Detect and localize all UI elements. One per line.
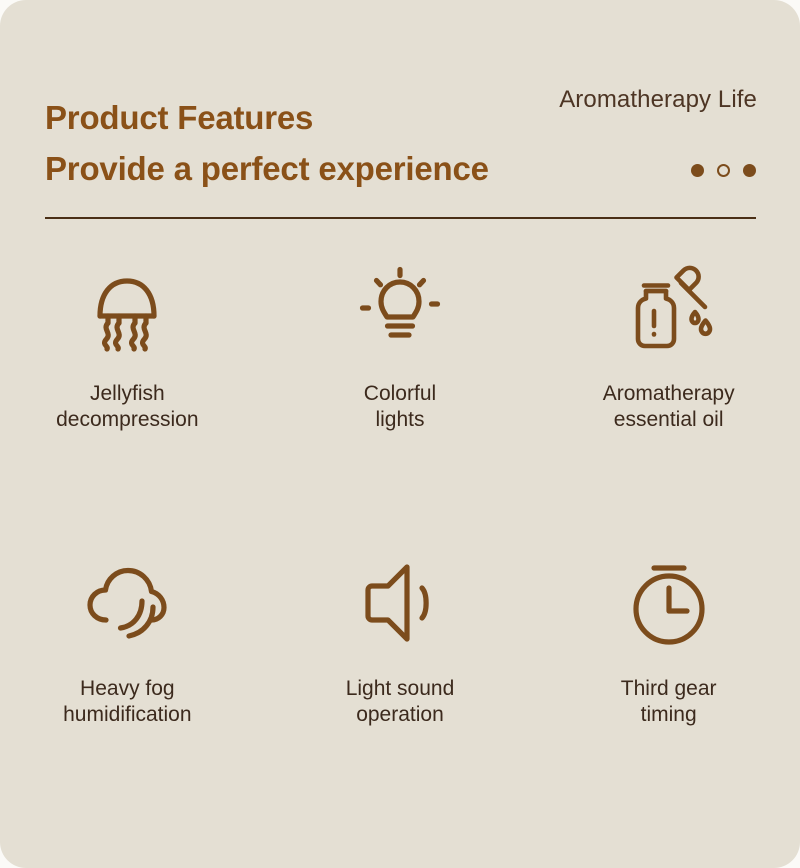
feature-label: Light sound operation <box>346 676 455 728</box>
feature-item-third-gear-timing: Third gear timing <box>535 557 800 728</box>
title-line-1: Product Features <box>45 92 489 143</box>
feature-label: Colorful lights <box>364 381 436 433</box>
product-features-card: Product Features Provide a perfect exper… <box>0 0 800 868</box>
pagination-dot-1[interactable] <box>691 164 704 177</box>
title-line-2: Provide a perfect experience <box>45 143 489 194</box>
feature-label: Jellyfish decompression <box>56 381 198 433</box>
feature-item-aromatherapy-essential-oil: Aromatherapy essential oil <box>535 262 800 433</box>
pagination-dot-3[interactable] <box>743 164 756 177</box>
header-divider <box>45 217 756 219</box>
brand-label: Aromatherapy Life <box>559 86 757 114</box>
feature-item-jellyfish-decompression: Jellyfish decompression <box>0 262 261 433</box>
feature-item-light-sound-operation: Light sound operation <box>267 557 534 728</box>
page-title: Product Features Provide a perfect exper… <box>45 92 489 194</box>
features-grid: Jellyfish decompression Colorful lights <box>0 262 800 728</box>
lightbulb-icon <box>354 262 446 354</box>
stopwatch-timer-icon <box>623 557 715 649</box>
feature-label: Heavy fog humidification <box>63 676 191 728</box>
fog-cloud-icon <box>81 557 173 649</box>
card-header: Product Features Provide a perfect exper… <box>0 0 800 232</box>
pagination-dots[interactable] <box>691 164 756 177</box>
feature-label: Third gear timing <box>621 676 717 728</box>
jellyfish-icon <box>81 262 173 354</box>
pagination-dot-2[interactable] <box>717 164 730 177</box>
oil-dropper-bottle-icon <box>623 262 715 354</box>
speaker-low-volume-icon <box>354 557 446 649</box>
feature-item-colorful-lights: Colorful lights <box>267 262 534 433</box>
feature-item-heavy-fog-humidification: Heavy fog humidification <box>0 557 261 728</box>
feature-label: Aromatherapy essential oil <box>603 381 735 433</box>
